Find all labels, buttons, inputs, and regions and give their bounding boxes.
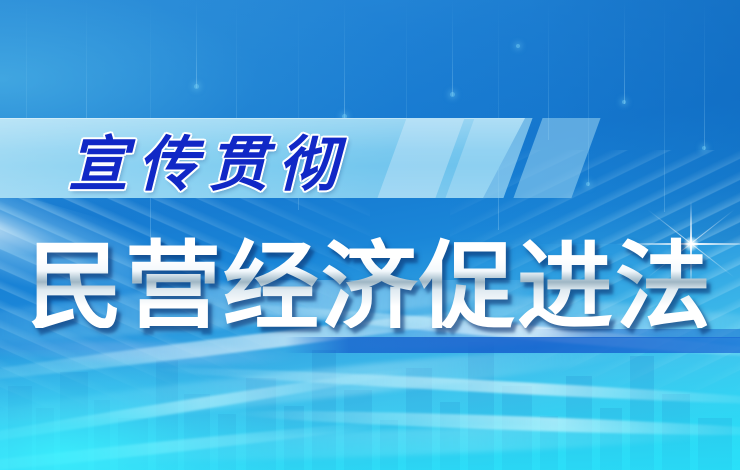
bottom-left-cyan-glow: [0, 350, 290, 470]
poster-banner: 宣传贯彻 民营经济促进法 民营经济促进法: [0, 0, 740, 470]
bottom-cyan-glow: [0, 350, 740, 470]
subtitle-text: 宣传贯彻: [68, 119, 348, 199]
main-title: 民营经济促进法: [0, 228, 740, 328]
